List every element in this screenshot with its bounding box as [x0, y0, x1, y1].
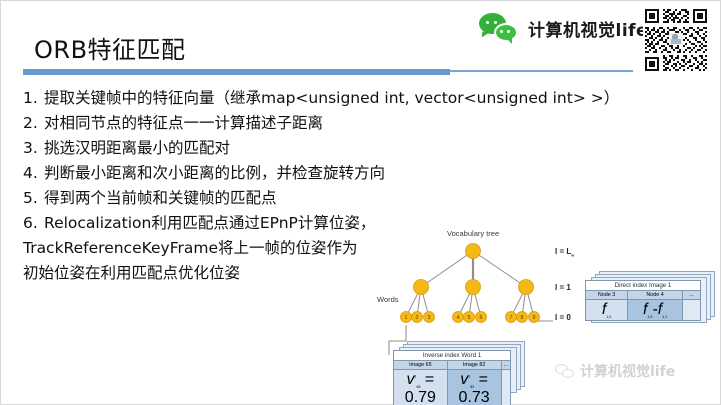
- inverse-index-v1-sym: v: [406, 371, 414, 388]
- svg-text:7: 7: [510, 315, 513, 321]
- page-title: ORB特征匹配: [34, 30, 186, 65]
- watermark-text: 计算机视觉life: [580, 361, 675, 381]
- inverse-index-v2-sup: 1: [468, 375, 470, 379]
- inverse-index-col-1: Image 82: [447, 361, 501, 370]
- title-rule-thick: [23, 69, 450, 75]
- list-item-text: 提取关键帧中的特征向量（继承map<unsigned int, vector<u…: [44, 87, 643, 109]
- slide-canvas: 计算机视觉life: [0, 0, 721, 405]
- level-label-lw: l = Lw: [555, 247, 574, 258]
- svg-text:6: 6: [480, 315, 483, 321]
- svg-text:1: 1: [405, 315, 408, 321]
- brand-logo-group: 计算机视觉life: [479, 13, 648, 43]
- svg-text:5: 5: [468, 315, 471, 321]
- list-item-number: 2.: [23, 112, 44, 134]
- inverse-index-cell-1: v182 = 0.73: [447, 370, 501, 405]
- direct-index-table-stack: Direct index Image 1 Node 3 Node 4 ... f…: [585, 271, 717, 323]
- direct-index-v2b-sym: -f: [652, 301, 662, 318]
- list-item: 4. 判断最小距离和次小距离的比例，并检查旋转方向: [23, 162, 643, 184]
- list-item: 5. 得到两个当前帧和关键帧的匹配点: [23, 187, 643, 209]
- direct-index-col-0: Node 3: [586, 291, 628, 300]
- inverse-index-col-2: ...: [501, 361, 511, 370]
- svg-text:2: 2: [416, 315, 419, 321]
- title-rule-thin: [450, 70, 633, 72]
- brand-name: 计算机视觉life: [528, 16, 648, 41]
- inverse-index-v1-sup: 1: [414, 375, 416, 379]
- inverse-index-cell-0: v165 = 0.79: [394, 370, 448, 405]
- svg-text:8: 8: [521, 315, 524, 321]
- inverse-index-col-0: Image 65: [394, 361, 448, 370]
- direct-index-cell-0: f1,0: [586, 300, 628, 321]
- wechat-bubble-icon: [479, 13, 521, 43]
- list-item-number: 5.: [23, 187, 44, 209]
- direct-index-col-1: Node 4: [628, 291, 683, 300]
- level-label-text: l = L: [555, 247, 571, 256]
- inverse-index-v2-sym: v: [460, 371, 468, 388]
- list-item: 2. 对相同节点的特征点一一计算描述子距离: [23, 112, 643, 134]
- direct-index-col-2: ...: [683, 291, 701, 300]
- list-item-number: 3.: [23, 137, 44, 159]
- list-item: 1. 提取关键帧中的特征向量（继承map<unsigned int, vecto…: [23, 87, 643, 109]
- svg-text:9: 9: [533, 315, 536, 321]
- level-label-sub: w: [571, 254, 574, 258]
- list-item: 3. 挑选汉明距离最小的匹配对: [23, 137, 643, 159]
- svg-text:3: 3: [428, 315, 431, 321]
- level-label-1: l = 1: [555, 283, 571, 292]
- list-item-text: 得到两个当前帧和关键帧的匹配点: [44, 187, 643, 209]
- list-item-text: 判断最小距离和次小距离的比例，并检查旋转方向: [44, 162, 643, 184]
- list-item-number: 1.: [23, 87, 44, 109]
- direct-index-cell-1: f1,0-f1,1: [628, 300, 683, 321]
- list-item-text: 挑选汉明距离最小的匹配对: [44, 137, 643, 159]
- direct-index-cell-2: [683, 300, 701, 321]
- direct-index-table: Direct index Image 1 Node 3 Node 4 ... f…: [585, 280, 701, 321]
- list-item-number: 6.: [23, 212, 44, 234]
- qr-code-icon[interactable]: [643, 7, 709, 73]
- inverse-index-table-stack: Inverse index Word 1 Image 65 Image 82 .…: [393, 341, 531, 397]
- inverse-index-title: Inverse index Word 1: [394, 351, 511, 361]
- list-item-text: 对相同节点的特征点一一计算描述子距离: [44, 112, 643, 134]
- watermark: 计算机视觉life: [555, 361, 675, 381]
- direct-index-v1-sub: 1,0: [606, 315, 611, 319]
- level-label-0: l = 0: [555, 313, 571, 322]
- inverse-index-table: Inverse index Word 1 Image 65 Image 82 .…: [393, 350, 511, 405]
- list-item-number: 4.: [23, 162, 44, 184]
- inverse-index-cell-2: [501, 370, 511, 405]
- direct-index-title: Direct index Image 1: [586, 281, 701, 291]
- wechat-bubble-icon: [555, 364, 575, 379]
- direct-index-v2b-sub: 1,1: [662, 315, 667, 319]
- svg-text:4: 4: [457, 315, 460, 321]
